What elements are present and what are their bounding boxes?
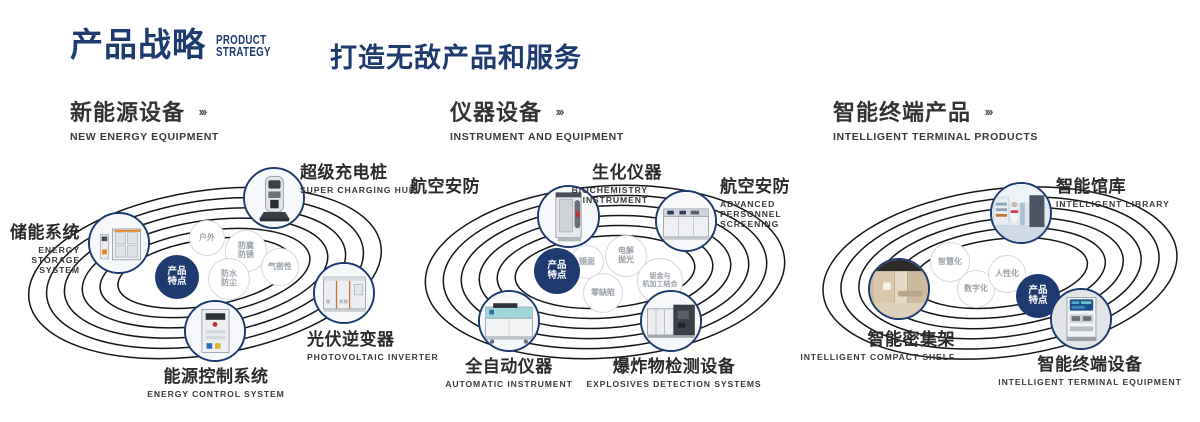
- feature-bubble-label: 数字化: [964, 285, 988, 294]
- feature-bubble-label: 智慧化: [938, 258, 962, 267]
- product-label-en: ENERGY CONTROL SYSTEM: [116, 389, 316, 399]
- product-circle-energy-storage[interactable]: [88, 212, 150, 274]
- feature-bubble-label: 防腐 防锈: [238, 242, 254, 260]
- feature-bubble: 防水 防尘: [208, 258, 250, 300]
- section-heading-intelligent-terminal: 智能终端产品 ››› INTELLIGENT TERMINAL PRODUCTS: [833, 95, 1038, 143]
- feature-bubble-label: 防水 防尘: [221, 270, 237, 288]
- explosive-detector-icon: [642, 292, 700, 350]
- feature-bubble-label: 零缺陷: [591, 289, 615, 298]
- product-label-cn: 能源控制系统: [116, 362, 316, 387]
- section-heading-new-energy: 新能源设备 ››› NEW ENERGY EQUIPMENT: [70, 95, 219, 143]
- cluster-new-energy: 户外 防腐 防锈 防水 防尘 气密性 产品 特点: [0, 150, 420, 400]
- section-title-cn: 新能源设备: [70, 95, 185, 127]
- product-label-cn: 智能终端设备: [990, 350, 1190, 375]
- control-cabinet-icon: [186, 302, 244, 360]
- compact-shelf-icon: [870, 260, 928, 318]
- charging-pile-icon: [245, 169, 303, 227]
- feature-bubble-label: 气密性: [268, 263, 292, 272]
- product-label-cn: 超级充电桩: [300, 158, 416, 183]
- product-label-cn: 储能系统: [0, 218, 80, 243]
- section-title-cn: 仪器设备: [450, 95, 542, 127]
- inverter-cabinet-icon: [315, 264, 373, 322]
- product-circle-intelligent-terminal-equipment[interactable]: [1050, 288, 1112, 350]
- feature-bubble-label: 镜面: [579, 258, 595, 267]
- product-circle-intelligent-library[interactable]: [990, 182, 1052, 244]
- feature-bubble-label: 户外: [199, 234, 215, 243]
- product-label-en: EXPLOSIVES DETECTION SYSTEMS: [576, 379, 772, 389]
- cluster-instrument: 镜面 电解 抛光 钣金与 机加工结合 零缺陷 产品 特点 航空安防: [400, 150, 820, 400]
- chevron-right-icon: ›››: [984, 104, 991, 119]
- automatic-analyzer-icon: [480, 292, 538, 350]
- page-title-cn: 产品战略: [70, 28, 206, 61]
- product-label-en: SUPER CHARGING HUB: [300, 185, 416, 195]
- feature-bubble-label: 电解 抛光: [618, 247, 634, 265]
- product-circle-photovoltaic-inverter[interactable]: [313, 262, 375, 324]
- page-title-en-line2: STRATEGY: [216, 47, 271, 59]
- product-label-en: INTELLIGENT TERMINAL EQUIPMENT: [990, 377, 1190, 387]
- section-title-en: INTELLIGENT TERMINAL PRODUCTS: [833, 131, 1038, 143]
- product-label-en: ENERGY STORAGE SYSTEM: [0, 245, 80, 275]
- battery-cabinet-icon: [90, 214, 148, 272]
- product-label-en: ADVANCED PERSONNEL SCREENING: [720, 199, 812, 229]
- feature-bubble: 零缺陷: [583, 273, 623, 313]
- product-strategy-infographic: 产品战略 PRODUCT STRATEGY 打造无敌产品和服务 新能源设备 ››…: [0, 0, 1200, 422]
- chevron-right-icon: ›››: [198, 104, 205, 119]
- product-label-intelligent-compact-shelf: 智能密集架 INTELLIGENT COMPACT SHELF: [790, 325, 955, 362]
- product-label-cn: 智能密集架: [790, 325, 955, 350]
- section-title-en: INSTRUMENT AND EQUIPMENT: [450, 131, 624, 143]
- feature-bubble-label: 人性化: [995, 270, 1019, 279]
- product-label-cn: 爆炸物检测设备: [576, 352, 772, 377]
- center-bubble-line2: 特点: [167, 277, 186, 287]
- cluster-intelligent-terminal: 智慧化 数字化 人性化 产品 特点: [800, 150, 1200, 400]
- screening-machine-icon: [657, 192, 715, 250]
- page-title-en: PRODUCT STRATEGY: [216, 35, 271, 59]
- product-label-intelligent-terminal-equipment: 智能终端设备 INTELLIGENT TERMINAL EQUIPMENT: [990, 350, 1190, 387]
- product-label-intelligent-library: 智能馆库 INTELLIGENT LIBRARY: [1056, 172, 1170, 209]
- product-label-cn: 航空安防: [410, 172, 480, 197]
- product-circle-advanced-personnel-screening[interactable]: [655, 190, 717, 252]
- page-title-block: 产品战略 PRODUCT STRATEGY: [70, 28, 286, 61]
- product-label-advanced-personnel-screening: 航空安防 ADVANCED PERSONNEL SCREENING: [720, 172, 812, 229]
- section-heading-instrument: 仪器设备 ››› INSTRUMENT AND EQUIPMENT: [450, 95, 624, 143]
- center-bubble-line2: 特点: [1028, 296, 1047, 306]
- center-bubble-line2: 特点: [547, 271, 566, 281]
- product-label-cn: 智能馆库: [1056, 172, 1170, 197]
- chevron-right-icon: ›››: [555, 104, 562, 119]
- product-label-aviation-security: 航空安防: [410, 172, 480, 199]
- product-label-super-charging-hub: 超级充电桩 SUPER CHARGING HUB: [300, 158, 416, 195]
- center-bubble-product-features: 产品 特点: [534, 248, 580, 294]
- center-bubble-product-features: 产品 特点: [155, 255, 199, 299]
- product-circle-intelligent-compact-shelf[interactable]: [868, 258, 930, 320]
- library-hall-icon: [992, 184, 1050, 242]
- product-label-cn: 生化仪器: [592, 158, 688, 183]
- product-label-en: INTELLIGENT LIBRARY: [1056, 199, 1170, 209]
- product-circle-automatic-instrument[interactable]: [478, 290, 540, 352]
- product-label-explosives-detection: 爆炸物检测设备 EXPLOSIVES DETECTION SYSTEMS: [576, 352, 772, 389]
- feature-bubble-label: 钣金与 机加工结合: [643, 273, 678, 288]
- feature-bubble: 户外: [189, 220, 225, 256]
- section-title-cn: 智能终端产品: [833, 95, 971, 127]
- product-circle-energy-control-system[interactable]: [184, 300, 246, 362]
- product-label-en: BIOCHEMISTRY INSTRUMENT: [552, 185, 648, 205]
- product-label-en: INTELLIGENT COMPACT SHELF: [790, 352, 955, 362]
- product-label-cn: 航空安防: [720, 172, 812, 197]
- product-label-energy-control-system: 能源控制系统 ENERGY CONTROL SYSTEM: [116, 362, 316, 399]
- terminal-kiosk-icon: [1052, 290, 1110, 348]
- section-title-en: NEW ENERGY EQUIPMENT: [70, 131, 219, 143]
- feature-bubble: 气密性: [261, 248, 299, 286]
- product-circle-super-charging-hub[interactable]: [243, 167, 305, 229]
- product-label-energy-storage: 储能系统 ENERGY STORAGE SYSTEM: [0, 218, 80, 275]
- product-circle-explosives-detection[interactable]: [640, 290, 702, 352]
- page-subtitle: 打造无敌产品和服务: [330, 36, 582, 75]
